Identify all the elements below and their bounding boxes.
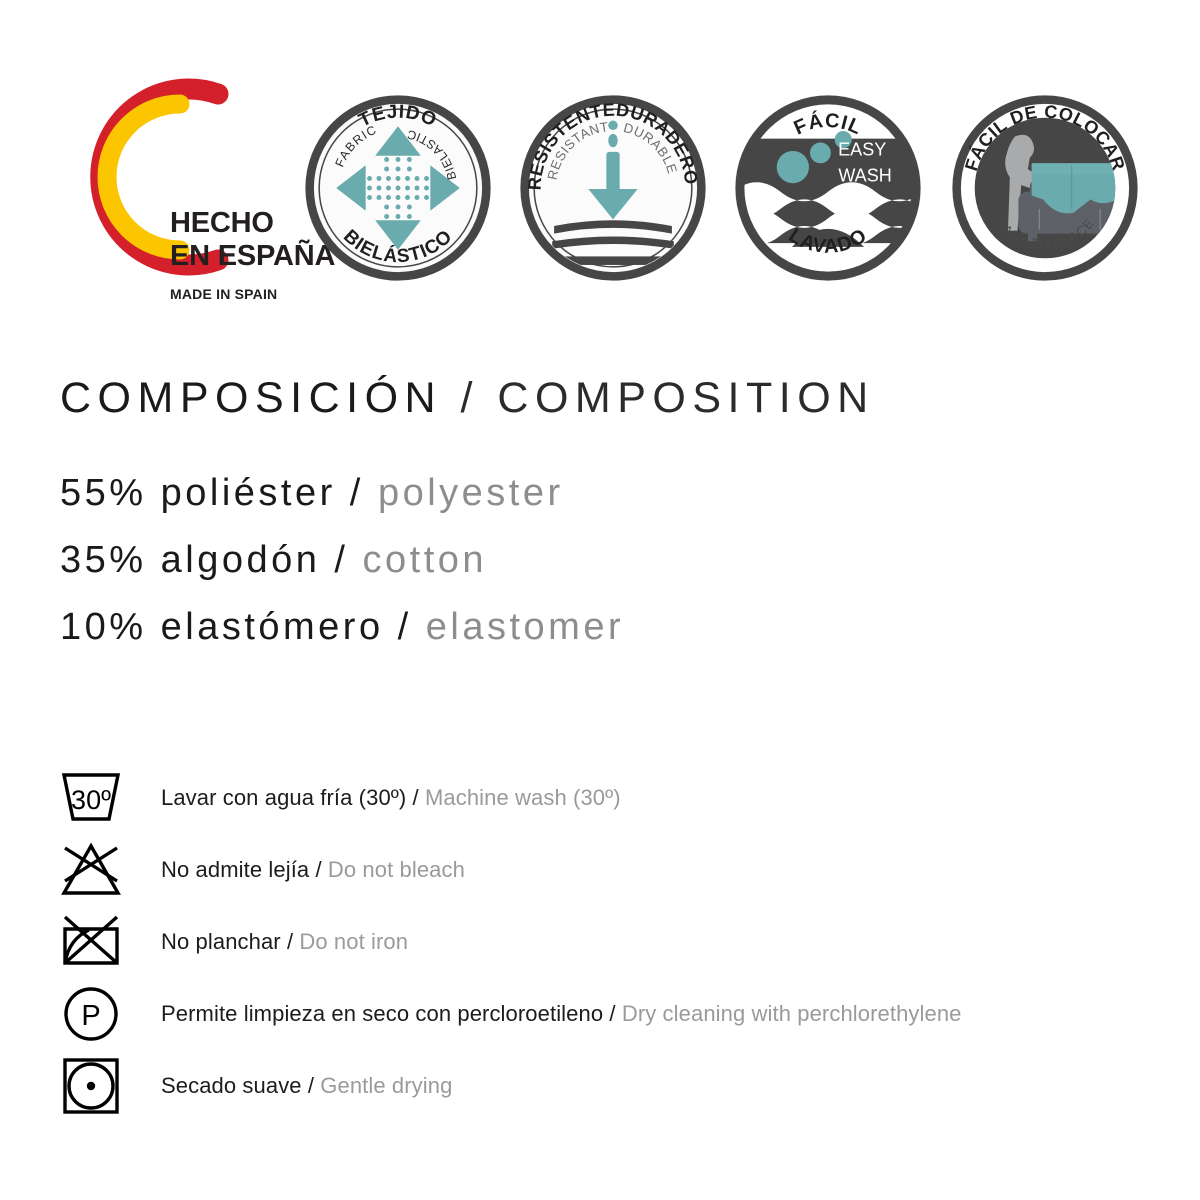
wash-tub-30-icon: 30º	[60, 767, 126, 829]
care-label-sep: /	[302, 1073, 321, 1098]
composition-item-sep: /	[384, 606, 426, 648]
care-row-label: Lavar con agua fría (30º) / Machine wash…	[161, 785, 621, 811]
composition-title-sep: /	[442, 374, 497, 422]
no-iron-icon	[60, 911, 126, 973]
composition-item-es: 10% elastómero	[60, 606, 384, 648]
badge-easy-wash: FÁCIL LAVADO EASY WASH	[733, 93, 923, 283]
care-label-sep: /	[603, 1001, 622, 1026]
composition-title-es: COMPOSICIÓN	[60, 374, 442, 422]
composition-item: 10% elastómero / elastomer	[60, 594, 1140, 661]
care-label-en: Do not bleach	[328, 857, 465, 882]
made-in-spain-logo: HECHO EN ESPAÑA MADE IN SPAIN	[58, 72, 293, 282]
certification-badge-row: HECHO EN ESPAÑA MADE IN SPAIN	[0, 0, 1200, 300]
care-row-label: No admite lejía / Do not bleach	[161, 857, 465, 883]
care-label-en: Do not iron	[299, 929, 408, 954]
care-label-en: Gentle drying	[320, 1073, 452, 1098]
composition-item-es: 35% algodón	[60, 539, 320, 581]
badge-resistant-durable: RESISTENTE DURADERO RESISTANT DURABLE	[518, 93, 708, 283]
badge3-wash-label: WASH	[838, 165, 891, 185]
care-label-sep: /	[309, 857, 328, 882]
care-label-es: Secado suave	[161, 1073, 302, 1098]
care-label-es: Lavar con agua fría (30º)	[161, 785, 406, 810]
badge-bielastic-fabric: TEJIDO BIELÁSTICO FABRIC BIELASTIC	[303, 93, 493, 283]
no-bleach-triangle-icon	[60, 839, 126, 901]
care-row: P Permite limpieza en seco con percloroe…	[60, 978, 1160, 1050]
badge3-easy-label: EASY	[838, 140, 886, 160]
composition-title-en: COMPOSITION	[497, 374, 874, 422]
care-row-label: No planchar / Do not iron	[161, 929, 408, 955]
care-label-es: No admite lejía	[161, 857, 309, 882]
spain-made-in-spain: MADE IN SPAIN	[170, 286, 350, 302]
care-label-en: Dry cleaning with perchlorethylene	[622, 1001, 962, 1026]
composition-item-sep: /	[320, 539, 362, 581]
care-row: No planchar / Do not iron	[60, 906, 1160, 978]
care-label-sep: /	[406, 785, 425, 810]
composition-item-en: cotton	[363, 539, 488, 581]
composition-item-en: elastomer	[426, 606, 624, 648]
care-label-en: Machine wash (30º)	[425, 785, 621, 810]
composition-title: COMPOSICIÓN / COMPOSITION	[60, 372, 1140, 424]
care-row: No admite lejía / Do not bleach	[60, 834, 1160, 906]
care-label-sep: /	[281, 929, 300, 954]
wash-temperature-label: 30º	[71, 785, 111, 815]
care-instructions-section: 30º Lavar con agua fría (30º) / Machine …	[60, 762, 1160, 1122]
care-label-es: Permite limpieza en seco con percloroeti…	[161, 1001, 603, 1026]
care-label-es: No planchar	[161, 929, 281, 954]
care-row: Secado suave / Gentle drying	[60, 1050, 1160, 1122]
composition-item: 35% algodón / cotton	[60, 527, 1140, 594]
composition-item: 55% poliéster / polyester	[60, 460, 1140, 527]
product-care-label: HECHO EN ESPAÑA MADE IN SPAIN	[0, 0, 1200, 1200]
dry-clean-p-icon: P	[60, 983, 126, 1045]
composition-item-sep: /	[336, 472, 378, 514]
gentle-tumble-dry-icon	[60, 1055, 126, 1117]
care-row-label: Permite limpieza en seco con percloroeti…	[161, 1001, 962, 1027]
composition-item-en: polyester	[378, 472, 564, 514]
composition-item-es: 55% poliéster	[60, 472, 336, 514]
composition-list: 55% poliéster / polyester 35% algodón / …	[60, 460, 1140, 661]
composition-section: COMPOSICIÓN / COMPOSITION 55% poliéster …	[60, 372, 1140, 661]
care-row-label: Secado suave / Gentle drying	[161, 1073, 452, 1099]
badge-easy-to-place: FÁCIL DE COLOCAR EASY TO PLACE	[950, 93, 1140, 283]
care-row: 30º Lavar con agua fría (30º) / Machine …	[60, 762, 1160, 834]
dry-clean-letter: P	[81, 1000, 100, 1032]
